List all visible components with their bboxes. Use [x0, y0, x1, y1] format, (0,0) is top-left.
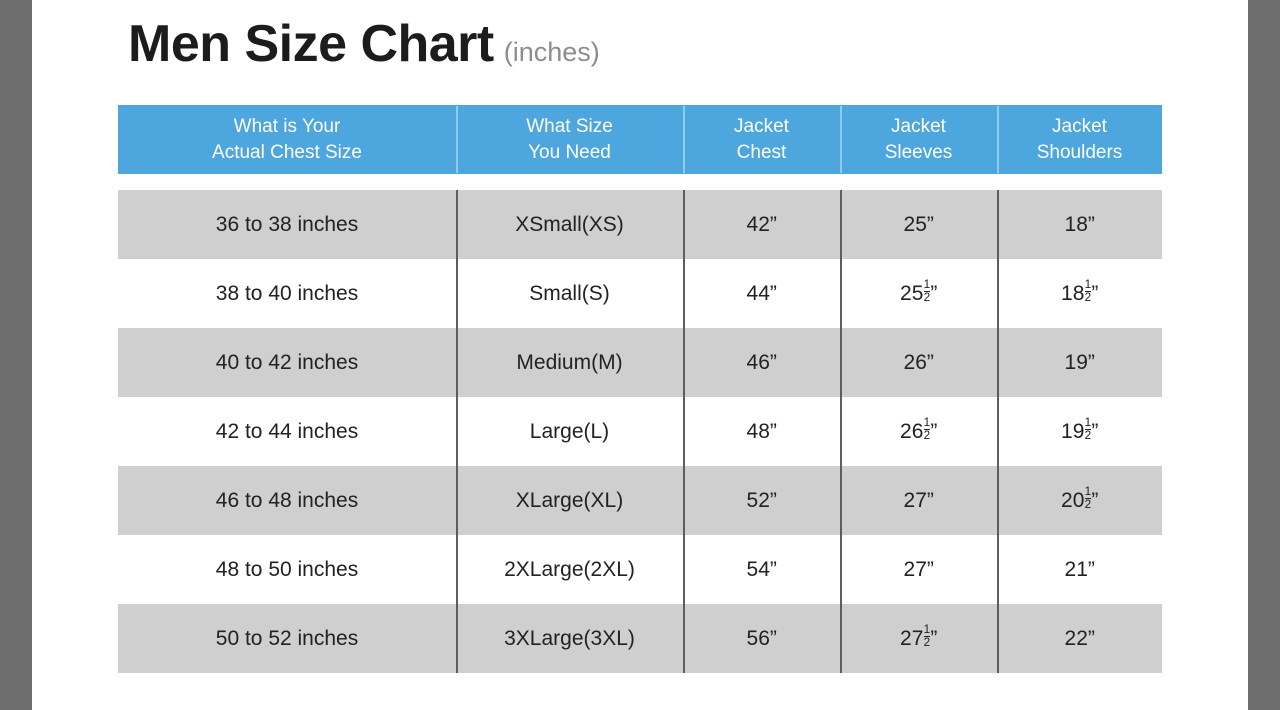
cell-jacket-shoulders: 1912” — [997, 397, 1162, 466]
table-row: 36 to 38 inchesXSmall(XS)42”25”18” — [118, 190, 1162, 259]
cell-jacket-shoulders: 21” — [997, 535, 1162, 604]
cell-jacket-sleeves: 2512” — [840, 259, 997, 328]
cell-jacket-shoulders: 1812” — [997, 259, 1162, 328]
cell-actual-chest-size: 40 to 42 inches — [118, 328, 456, 397]
column-header-line2: Actual Chest Size — [212, 140, 362, 165]
column-header-line2: You Need — [528, 140, 611, 165]
cell-actual-chest-size: 36 to 38 inches — [118, 190, 456, 259]
cell-jacket-chest: 44” — [683, 259, 840, 328]
cell-actual-chest-size: 42 to 44 inches — [118, 397, 456, 466]
column-header-line1: What Size — [526, 114, 613, 139]
inch-mark: ” — [770, 489, 777, 513]
inch-mark: ” — [927, 489, 934, 513]
inch-mark: ” — [770, 420, 777, 444]
inch-mark: ” — [1091, 282, 1098, 306]
column-header-line1: Jacket — [891, 114, 946, 139]
cell-jacket-chest: 52” — [683, 466, 840, 535]
cell-jacket-sleeves: 27” — [840, 466, 997, 535]
inch-mark: ” — [1088, 351, 1095, 375]
cell-jacket-chest: 48” — [683, 397, 840, 466]
column-header-line2: Chest — [737, 140, 787, 165]
inch-mark: ” — [770, 627, 777, 651]
size-chart-table: What is Your Actual Chest Size What Size… — [118, 105, 1162, 673]
half-fraction-glyph: 12 — [1085, 417, 1092, 442]
half-fraction-glyph: 12 — [1085, 486, 1092, 511]
cell-jacket-chest: 42” — [683, 190, 840, 259]
inch-mark: ” — [1091, 420, 1098, 444]
table-row: 50 to 52 inches3XLarge(3XL)56”2712”22” — [118, 604, 1162, 673]
inch-mark: ” — [1088, 558, 1095, 582]
column-header-jacket-chest: Jacket Chest — [683, 105, 840, 174]
table-body: 36 to 38 inchesXSmall(XS)42”25”18”38 to … — [118, 190, 1162, 673]
inch-mark: ” — [927, 558, 934, 582]
column-header-line1: What is Your — [234, 114, 341, 139]
inch-mark: ” — [770, 213, 777, 237]
cell-jacket-sleeves: 27” — [840, 535, 997, 604]
inch-mark: ” — [927, 213, 934, 237]
cell-size-you-need: Small(S) — [456, 259, 683, 328]
cell-size-you-need: 2XLarge(2XL) — [456, 535, 683, 604]
table-header-row: What is Your Actual Chest Size What Size… — [118, 105, 1162, 174]
cell-actual-chest-size: 46 to 48 inches — [118, 466, 456, 535]
cell-jacket-shoulders: 22” — [997, 604, 1162, 673]
column-header-line2: Sleeves — [885, 140, 953, 165]
column-header-line1: Jacket — [1052, 114, 1107, 139]
cell-actual-chest-size: 38 to 40 inches — [118, 259, 456, 328]
column-header-size-you-need: What Size You Need — [456, 105, 683, 174]
cell-jacket-shoulders: 18” — [997, 190, 1162, 259]
cell-size-you-need: XLarge(XL) — [456, 466, 683, 535]
cell-size-you-need: Large(L) — [456, 397, 683, 466]
half-fraction-glyph: 12 — [1085, 279, 1092, 304]
half-fraction-glyph: 12 — [924, 279, 931, 304]
letterbox-right — [1248, 0, 1280, 710]
inch-mark: ” — [930, 282, 937, 306]
column-header-jacket-shoulders: Jacket Shoulders — [997, 105, 1162, 174]
column-header-actual-chest-size: What is Your Actual Chest Size — [118, 105, 456, 174]
cell-jacket-sleeves: 26” — [840, 328, 997, 397]
inch-mark: ” — [770, 558, 777, 582]
cell-actual-chest-size: 50 to 52 inches — [118, 604, 456, 673]
inch-mark: ” — [927, 351, 934, 375]
inch-mark: ” — [1088, 213, 1095, 237]
page-title: Men Size Chart (inches) — [128, 18, 600, 70]
table-row: 48 to 50 inches2XLarge(2XL)54”27”21” — [118, 535, 1162, 604]
cell-jacket-sleeves: 25” — [840, 190, 997, 259]
inch-mark: ” — [930, 627, 937, 651]
inch-mark: ” — [770, 282, 777, 306]
half-fraction-glyph: 12 — [924, 624, 931, 649]
column-header-line2: Shoulders — [1037, 140, 1123, 165]
cell-size-you-need: Medium(M) — [456, 328, 683, 397]
table-row: 40 to 42 inchesMedium(M)46”26”19” — [118, 328, 1162, 397]
page-title-main: Men Size Chart — [128, 18, 494, 70]
cell-size-you-need: XSmall(XS) — [456, 190, 683, 259]
cell-jacket-shoulders: 2012” — [997, 466, 1162, 535]
column-header-line1: Jacket — [734, 114, 789, 139]
cell-jacket-chest: 54” — [683, 535, 840, 604]
column-header-jacket-sleeves: Jacket Sleeves — [840, 105, 997, 174]
letterbox-left — [0, 0, 32, 710]
cell-jacket-chest: 46” — [683, 328, 840, 397]
inch-mark: ” — [770, 351, 777, 375]
half-fraction-glyph: 12 — [924, 417, 931, 442]
table-row: 38 to 40 inchesSmall(S)44”2512”1812” — [118, 259, 1162, 328]
cell-jacket-chest: 56” — [683, 604, 840, 673]
table-row: 42 to 44 inchesLarge(L)48”2612”1912” — [118, 397, 1162, 466]
slide-canvas: Men Size Chart (inches) What is Your Act… — [32, 0, 1248, 710]
cell-jacket-sleeves: 2712” — [840, 604, 997, 673]
page-title-units: (inches) — [504, 39, 600, 66]
table-row: 46 to 48 inchesXLarge(XL)52”27”2012” — [118, 466, 1162, 535]
cell-jacket-sleeves: 2612” — [840, 397, 997, 466]
inch-mark: ” — [930, 420, 937, 444]
inch-mark: ” — [1088, 627, 1095, 651]
cell-size-you-need: 3XLarge(3XL) — [456, 604, 683, 673]
cell-jacket-shoulders: 19” — [997, 328, 1162, 397]
cell-actual-chest-size: 48 to 50 inches — [118, 535, 456, 604]
inch-mark: ” — [1091, 489, 1098, 513]
